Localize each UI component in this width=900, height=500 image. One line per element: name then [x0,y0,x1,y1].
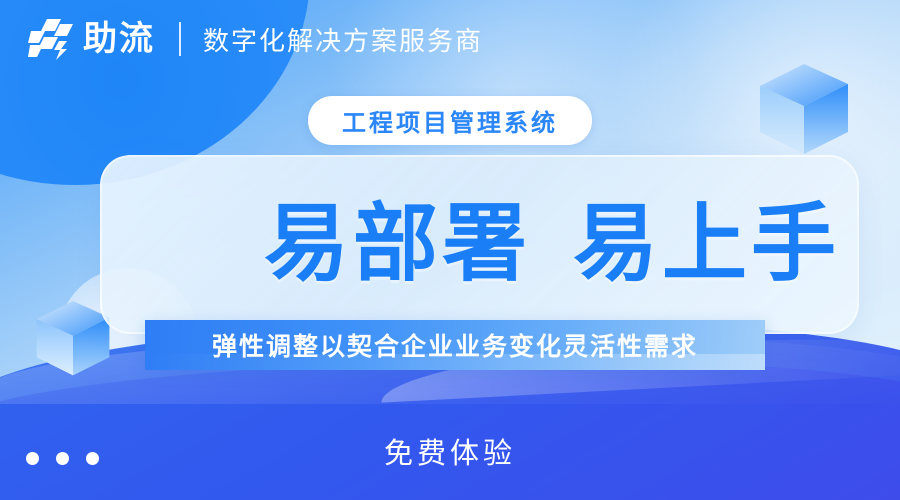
product-badge-label: 工程项目管理系统 [342,110,558,137]
free-trial-label[interactable]: 免费体验 [384,438,516,470]
brand-name: 助流 [83,22,155,56]
dot-1-icon [26,452,39,465]
zhuliu-lightning-logo-icon [28,17,74,61]
brand-header: 助流 数字化解决方案服务商 [28,14,483,64]
cube-3d-icon [752,58,856,162]
headline-panel: 易部署 易上手 [100,155,859,334]
promo-banner: 助流 数字化解决方案服务商 工程项目管理系统 易部署 易上手 弹性调整以契合企业… [0,0,900,500]
subheadline-text: 弹性调整以契合企业业务变化灵活性需求 [212,327,698,363]
header-divider [179,22,181,56]
decorative-dots [26,452,99,465]
dot-3-icon [86,452,99,465]
cta-container[interactable]: 免费体验 [0,430,900,472]
product-badge: 工程项目管理系统 [308,96,592,145]
headline-container: 易部署 易上手 [102,157,900,332]
headline-part-1: 易部署 [264,202,531,287]
headline-part-2: 易上手 [573,202,840,287]
dot-2-icon [56,452,69,465]
subheadline-strip: 弹性调整以契合企业业务变化灵活性需求 [145,320,765,370]
brand-tagline: 数字化解决方案服务商 [203,21,483,58]
